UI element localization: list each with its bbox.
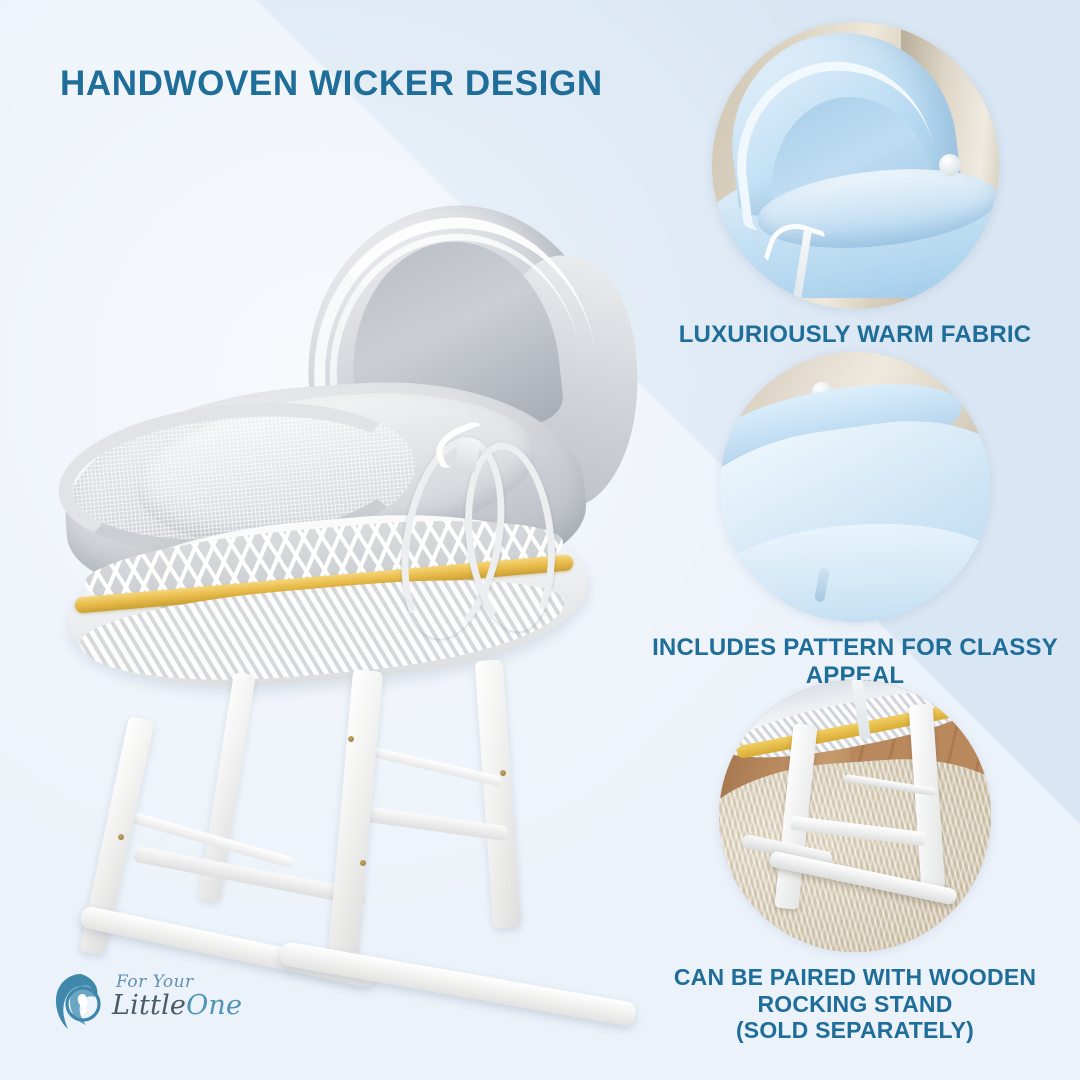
feature-caption-line-1: CAN BE PAIRED WITH WOODEN — [674, 964, 1036, 990]
stand-screw — [118, 834, 124, 840]
feature-caption: LUXURIOUSLY WARM FABRIC — [645, 321, 1065, 349]
feature-caption-line-3: (SOLD SEPARATELY) — [736, 1017, 974, 1043]
feature-rocking-stand: CAN BE PAIRED WITH WOODEN ROCKING STAND … — [645, 680, 1065, 1044]
brand-wordmark: For Your LittleOne — [112, 966, 232, 1036]
blue-basket-hood-photo — [712, 22, 999, 309]
stand-screw — [360, 860, 366, 866]
mother-and-baby-icon — [50, 970, 108, 1032]
stand-screw — [500, 770, 506, 776]
feature-caption: CAN BE PAIRED WITH WOODEN ROCKING STAND … — [645, 964, 1065, 1044]
moses-basket — [58, 190, 638, 660]
feature-warm-fabric: LUXURIOUSLY WARM FABRIC — [645, 22, 1065, 349]
rocking-stand — [48, 620, 648, 990]
brand-little: Little — [112, 990, 186, 1021]
blue-waffle-fabric-photo — [720, 352, 990, 622]
stand-leg-back-right — [475, 659, 522, 928]
page-title: HANDWOVEN WICKER DESIGN — [60, 64, 603, 104]
brand-one: One — [186, 990, 242, 1021]
rocking-stand-photo — [719, 680, 991, 952]
infographic-canvas: HANDWOVEN WICKER DESIGN — [0, 0, 1080, 1080]
feature-caption-line-2: ROCKING STAND — [757, 991, 952, 1017]
hero-product-image — [48, 190, 648, 990]
feature-classy-pattern: INCLUDES PATTERN FOR CLASSY APPEAL — [645, 352, 1065, 690]
brand-line-2: LittleOne — [112, 990, 242, 1021]
brand-line-1: For Your — [116, 972, 194, 992]
brand-logo: For Your LittleOne — [50, 966, 230, 1040]
stand-screw — [348, 736, 354, 742]
